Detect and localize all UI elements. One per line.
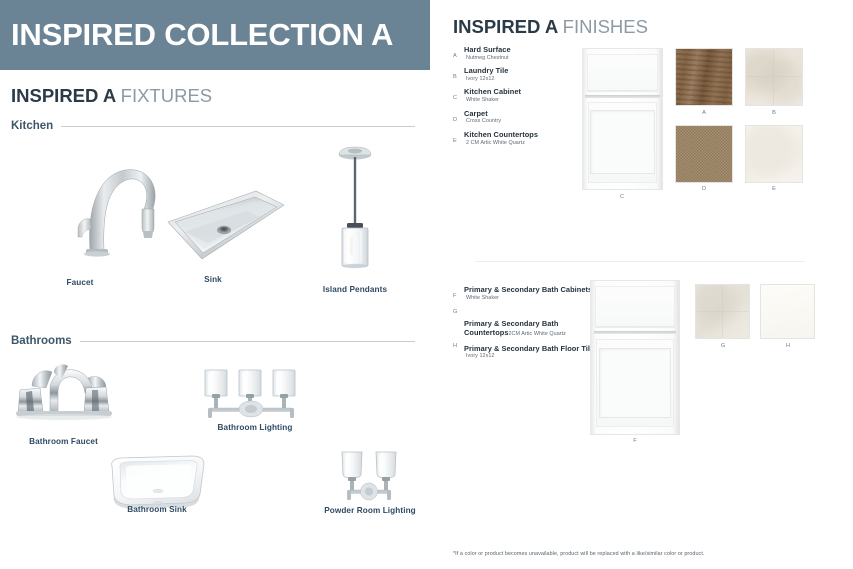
legend-item-d: D Carpet Cross Country <box>453 110 583 125</box>
legend-sub: White Shaker <box>464 97 583 103</box>
finishes-legend-top: A Hard Surface Nutmeg Chestnut B Laundry… <box>453 46 583 152</box>
bathroom-lighting-image <box>195 368 310 423</box>
legend-sub: 2CM Artic White Quartz <box>508 331 565 337</box>
island-pendant-image <box>322 145 388 270</box>
powder-room-lighting-image <box>330 450 408 505</box>
finishes-legend-bottom: F Primary & Secondary Bath Cabinets Whit… <box>453 286 603 369</box>
swatch-laundry-tile <box>745 48 803 106</box>
legend-item-h: H Primary & Secondary Bath Floor Tile Iv… <box>453 345 603 360</box>
door-drawer-front <box>595 286 674 328</box>
finishes-heading-light: FINISHES <box>563 16 648 37</box>
swatch-kitchen-countertops <box>745 125 803 183</box>
fixtures-heading-light: FIXTURES <box>121 85 212 106</box>
legend-item-f: F Primary & Secondary Bath Cabinets Whit… <box>453 286 603 301</box>
legend-name: Kitchen Countertops <box>464 131 583 140</box>
swatch-caption-h: H <box>778 343 798 349</box>
door-panel-inner <box>599 348 671 418</box>
legend-sub: Cross Country <box>464 118 583 124</box>
section-rule <box>80 341 415 342</box>
bath-cabinet-door-image <box>590 280 680 435</box>
legend-name: Primary & Secondary Bath Cabinets <box>464 286 603 295</box>
swatch-caption-c: C <box>612 194 632 200</box>
bathroom-sink-image <box>100 450 215 512</box>
fixture-caption-bathroom-lighting: Bathroom Lighting <box>205 423 305 432</box>
legend-sub: Nutmeg Chestnut <box>464 55 583 61</box>
swatch-caption-f: F <box>625 438 645 444</box>
swatch-caption-e: E <box>764 186 784 192</box>
swatch-caption-g: G <box>713 343 733 349</box>
fixture-caption-sink: Sink <box>183 275 243 284</box>
swatch-caption-a: A <box>694 110 714 116</box>
door-drawer-front <box>587 54 658 92</box>
swatch-hard-surface <box>675 48 733 106</box>
legend-letter: H <box>453 343 461 349</box>
kitchen-sink-image <box>160 185 290 270</box>
section-header-bathrooms: Bathrooms <box>11 335 415 347</box>
section-header-kitchen: Kitchen <box>11 120 415 132</box>
swatch-carpet <box>675 125 733 183</box>
legend-item-g: G Primary & Secondary Bath Countertops2C… <box>453 310 603 337</box>
legend-item-c: C Kitchen Cabinet White Shaker <box>453 88 583 103</box>
legend-name: Carpet <box>464 110 583 119</box>
legend-name: Hard Surface <box>464 46 583 55</box>
legend-letter: G <box>453 309 461 315</box>
fixtures-heading-dark: INSPIRED A <box>11 85 116 106</box>
section-label-bathrooms: Bathrooms <box>11 335 80 347</box>
legend-name: Kitchen Cabinet <box>464 88 583 97</box>
fixture-caption-bathroom-sink: Bathroom Sink <box>112 505 202 514</box>
fixture-caption-island-pendants: Island Pendants <box>315 285 395 294</box>
finishes-heading: INSPIRED A FINISHES <box>453 16 648 38</box>
bathroom-faucet-image <box>10 360 120 425</box>
door-reveal <box>594 331 677 334</box>
swatch-bath-floor-tile <box>760 284 815 339</box>
fixtures-panel: INSPIRED COLLECTION A INSPIRED A FIXTURE… <box>0 0 430 569</box>
legend-item-a: A Hard Surface Nutmeg Chestnut <box>453 46 583 61</box>
fixtures-heading: INSPIRED A FIXTURES <box>11 85 212 107</box>
finishes-heading-dark: INSPIRED A <box>453 16 558 37</box>
collection-title-banner: INSPIRED COLLECTION A <box>0 0 430 70</box>
legend-letter: D <box>453 117 461 123</box>
section-rule <box>61 126 415 127</box>
legend-name: Laundry Tile <box>464 67 583 76</box>
legend-letter: C <box>453 95 461 101</box>
finishes-panel: INSPIRED A FINISHES A Hard Surface Nutme… <box>430 0 853 569</box>
legend-letter: F <box>453 293 461 299</box>
kitchen-cabinet-door-image <box>582 48 663 190</box>
door-reveal <box>585 95 660 98</box>
swatch-bath-countertops <box>695 284 750 339</box>
legend-sub: Ivory 12x12 <box>464 353 603 359</box>
swatch-caption-d: D <box>694 186 714 192</box>
fixture-caption-faucet: Faucet <box>40 278 120 287</box>
design-board: INSPIRED COLLECTION A INSPIRED A FIXTURE… <box>0 0 853 569</box>
legend-sub: 2 CM Artic White Quartz <box>464 140 583 146</box>
footnote-disclaimer: *If a color or product becomes unavailab… <box>453 551 704 557</box>
finishes-divider <box>475 261 805 262</box>
legend-name-wrap: Primary & Secondary Bath Countertops2CM … <box>464 320 603 337</box>
legend-sub: Ivory 12x12 <box>464 76 583 82</box>
legend-item-b: B Laundry Tile Ivory 12x12 <box>453 67 583 82</box>
door-panel-inner <box>590 110 655 174</box>
page-title: INSPIRED COLLECTION A <box>0 17 393 53</box>
legend-letter: B <box>453 74 461 80</box>
legend-letter: A <box>453 53 461 59</box>
legend-item-e: E Kitchen Countertops 2 CM Artic White Q… <box>453 131 583 146</box>
section-label-kitchen: Kitchen <box>11 120 61 132</box>
fixture-caption-bathroom-faucet: Bathroom Faucet <box>16 437 111 446</box>
swatch-caption-b: B <box>764 110 784 116</box>
legend-sub: White Shaker <box>464 295 603 301</box>
fixture-caption-powder-room-lighting: Powder Room Lighting <box>320 506 420 515</box>
legend-name: Primary & Secondary Bath Floor Tile <box>464 345 603 354</box>
legend-letter: E <box>453 138 461 144</box>
